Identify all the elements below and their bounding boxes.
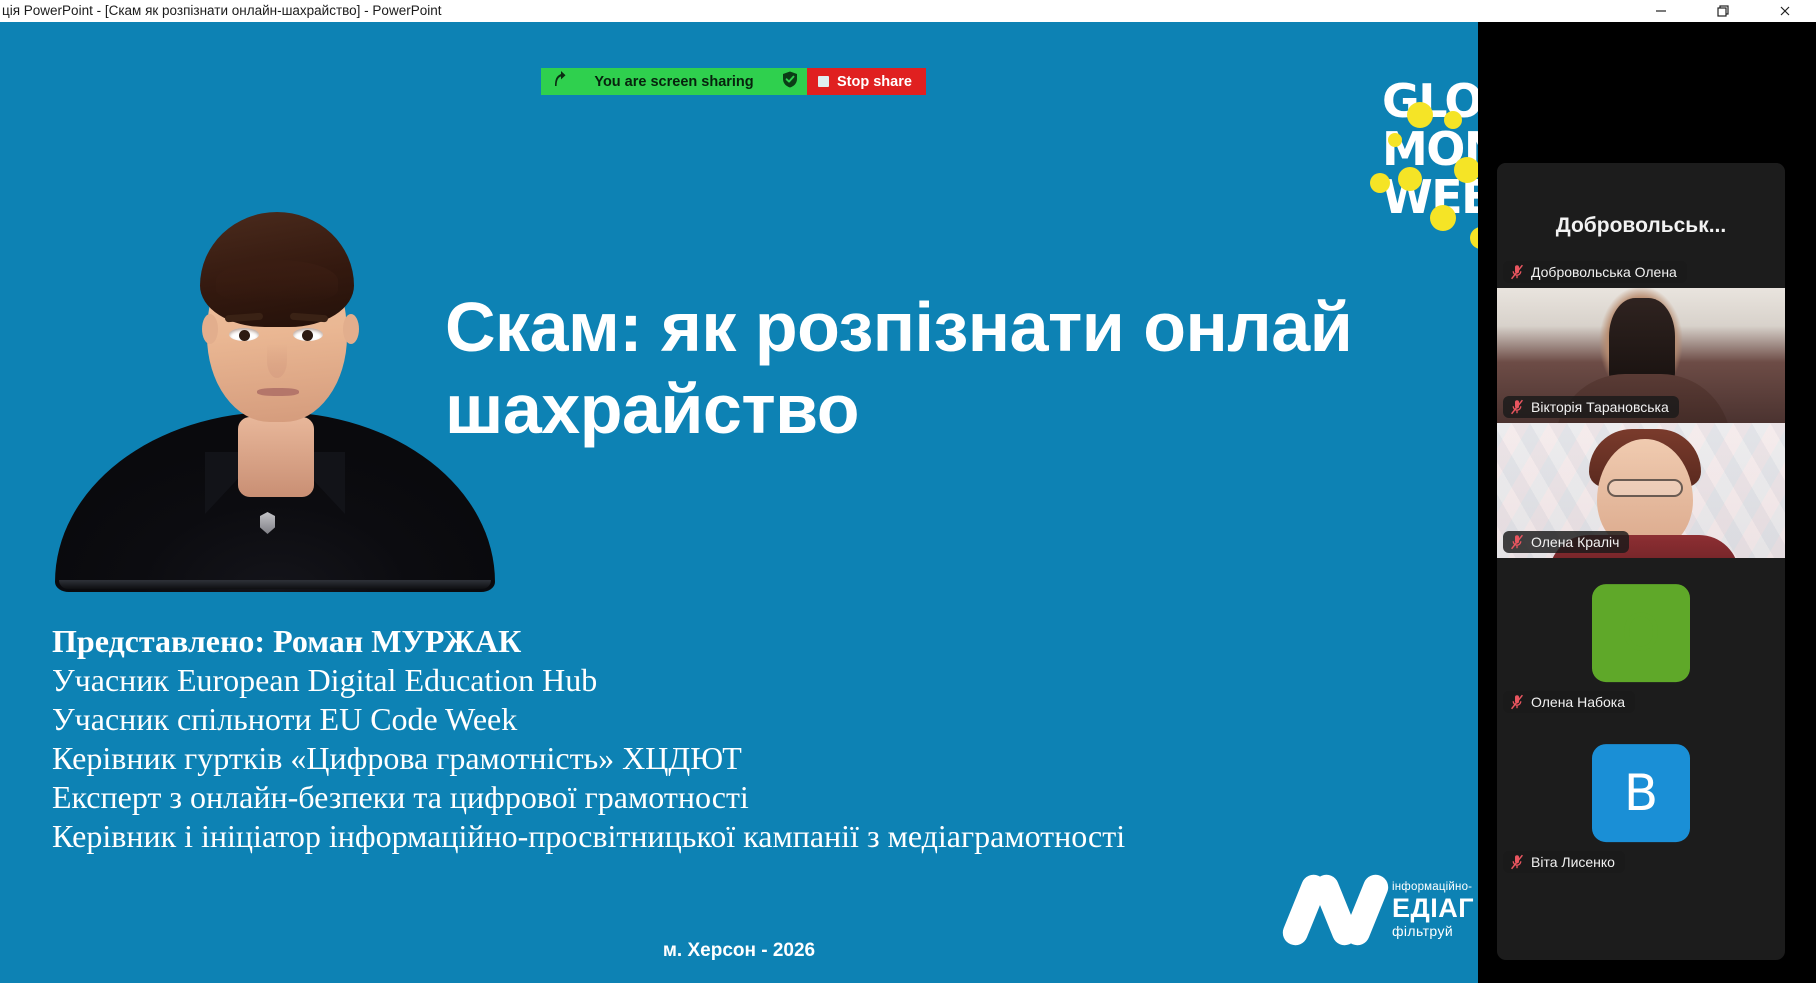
mf-top-text: інформаційно- [1392,881,1474,893]
close-icon[interactable] [1754,0,1816,22]
participant-name: Добровольська Олена [1531,264,1677,280]
body-line: Представлено: Роман МУРЖАК [52,622,1372,661]
mic-muted-icon [1510,854,1524,870]
stop-square-icon [818,76,829,87]
m-monogram-icon [1292,873,1384,945]
participant-name: Олена Краліч [1531,534,1619,550]
window-controls [1630,0,1816,22]
mic-muted-icon [1510,264,1524,280]
participant-name: Вікторія Тарановська [1531,399,1669,415]
body-line: Експерт з онлайн-безпеки та цифрової гра… [52,778,1372,817]
slide-title: Скам: як розпізнати онлай шахрайство [445,287,1478,451]
stop-share-button[interactable]: Stop share [807,68,926,95]
share-status-text: You are screen sharing [566,74,782,90]
global-money-week-logo: GLOBAL MONEY WEEK [1382,77,1478,257]
minimize-icon[interactable] [1630,0,1692,22]
participant-tile[interactable]: О Олена Набока [1497,558,1785,718]
mic-muted-icon [1510,534,1524,550]
participant-name-badge: Олена Набока [1503,691,1635,713]
participant-name-badge: Віта Лисенко [1503,851,1625,873]
participant-name-badge: Олена Краліч [1503,531,1629,553]
slide-footer-text: м. Херсон - 2026 [0,940,1478,962]
mic-muted-icon [1510,399,1524,415]
participant-tile[interactable]: Олена Краліч [1497,423,1785,558]
gmw-line-1: GLOBAL [1382,77,1478,125]
body-line: Учасник спільноти EU Code Week [52,700,1372,739]
participant-tile[interactable]: В Віта Лисенко [1497,718,1785,878]
slide-body-text: Представлено: Роман МУРЖАК Учасник Europ… [52,622,1372,856]
participant-name-badge: Вікторія Тарановська [1503,396,1679,418]
shield-check-icon[interactable] [782,71,798,93]
participant-tile[interactable]: Добровольськ... Добровольська Олена [1497,163,1785,288]
share-status-bar: You are screen sharing [541,68,807,95]
window-title-bar: ція PowerPoint - [Скам як розпізнати онл… [0,0,1816,22]
participant-name: Олена Набока [1531,694,1625,710]
gmw-line-2: MONEY [1382,125,1478,173]
screen-share-icon [550,71,566,93]
participant-center-name: Добровольськ... [1497,214,1785,238]
presentation-slide: Скам: як розпізнати онлай шахрайство Пре… [0,22,1478,983]
restore-icon[interactable] [1692,0,1754,22]
participant-name-badge: Добровольська Олена [1503,261,1687,283]
body-line: Учасник European Digital Education Hub [52,661,1372,700]
mic-muted-icon [1510,694,1524,710]
body-line: Керівник і ініціатор інформаційно-просві… [52,817,1372,856]
participant-tile[interactable]: Вікторія Тарановська [1497,288,1785,423]
mf-mid-text: ЕДІАГ [1392,893,1474,923]
avatar: В [1592,744,1690,842]
speaker-portrait [55,202,495,592]
stop-share-label: Stop share [837,74,912,90]
body-line: Керівник гуртків «Цифрова грамотність» Х… [52,739,1372,778]
avatar: О [1592,584,1690,682]
zoom-participants-panel[interactable]: Добровольськ... Добровольська Олена Вікт… [1497,163,1785,960]
screen-share-toolbar: You are screen sharing Stop share [541,68,926,95]
window-title-text: ція PowerPoint - [Скам як розпізнати онл… [0,0,441,22]
medialiteracy-logo: інформаційно- ЕДІАГ фільтруй [1292,867,1478,967]
gmw-line-3: WEEK [1382,173,1478,221]
mf-bottom-text: фільтруй [1392,923,1474,939]
participant-name: Віта Лисенко [1531,854,1615,870]
